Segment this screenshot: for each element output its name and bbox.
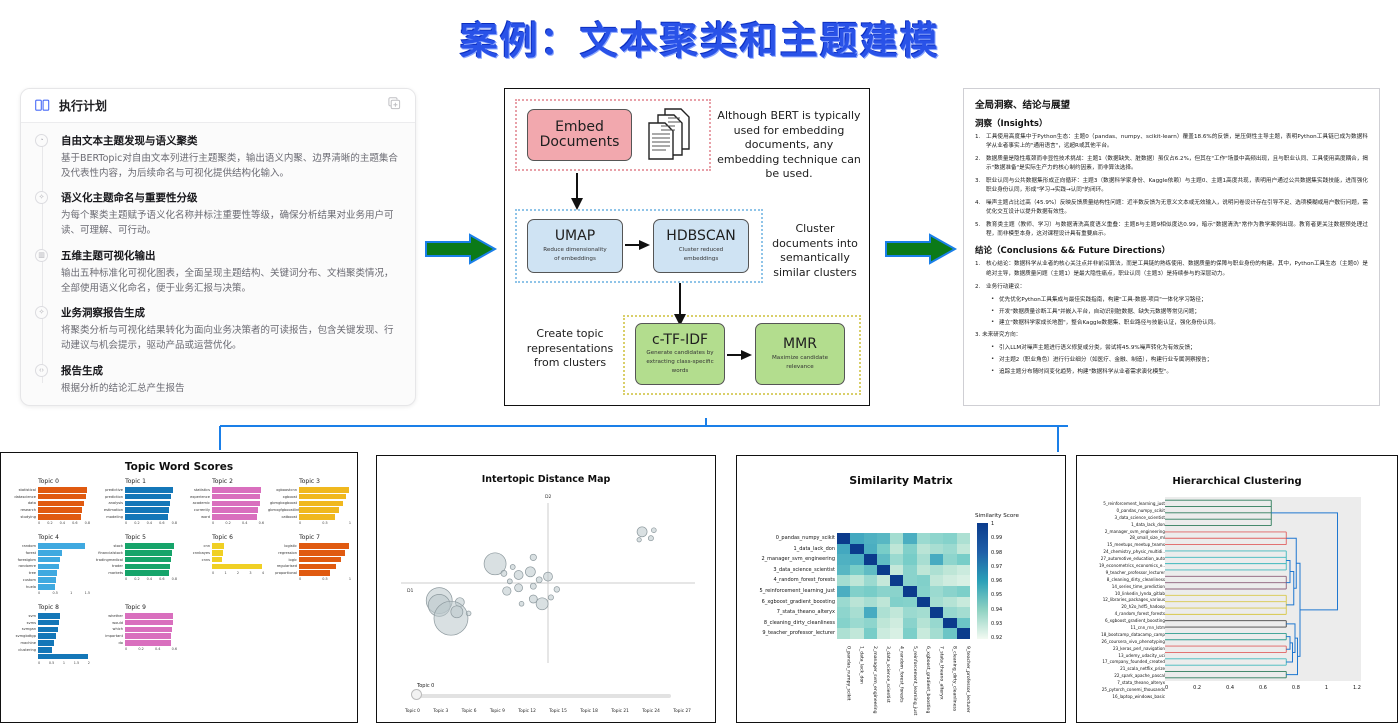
matrix-cell[interactable] [864, 607, 877, 618]
dendrogram-leaf-label: 14_series_time_prediction [1079, 584, 1165, 591]
matrix-cell[interactable] [837, 628, 850, 639]
matrix-cell[interactable] [917, 565, 930, 576]
matrix-cell[interactable] [864, 628, 877, 639]
node-hdbscan[interactable]: HDBSCAN Cluster reduced embeddings [653, 219, 749, 273]
topic-word-row: clustering [7, 647, 90, 653]
matrix-cell[interactable] [877, 618, 890, 629]
conclusion-bullet: 建立"数据科学家成长地图"，整合Kaggle数据集、职业路径与技能认证，强化身份… [991, 319, 1368, 328]
plan-step-title: 报告生成 [61, 363, 401, 378]
topic-slider-track[interactable] [415, 694, 671, 698]
topic-word-row: predictive [94, 487, 177, 493]
topic-bubble[interactable] [525, 567, 535, 577]
slider-tick-label: Topic 27 [673, 709, 691, 714]
bertopic-pipeline-diagram: Embed Documents Although BERT is typical… [504, 88, 870, 406]
matrix-cell[interactable] [850, 607, 863, 618]
topic-bubble[interactable] [637, 538, 641, 542]
insight-text: 数据质量是隐性瓶颈而非显性技术挑战：主题1（数据缺失、脏数据）虽仅占6.2%，但… [986, 156, 1368, 171]
topic-word-bar [125, 570, 169, 576]
similarity-plot-area: 0_pandas_numpy_scikit1_data_lack_don2_ma… [737, 491, 1065, 703]
insight-item: 2. 数据质量是隐性瓶颈而非显性技术挑战：主题1（数据缺失、脏数据）虽仅占6.2… [975, 155, 1368, 173]
topic-word-panel: Topic 9whetherwouldwhichimportantdo00.20… [92, 601, 179, 671]
insight-number: 3. [975, 177, 980, 186]
plan-step-title: 业务洞察报告生成 [61, 305, 401, 320]
colorbar-tick: 0.92 [991, 635, 1002, 641]
matrix-row-label: 3_data_science_scientist [739, 565, 835, 576]
topic-word-row: forestgbm [7, 557, 90, 563]
matrix-cell[interactable] [903, 544, 916, 555]
matrix-cell[interactable] [864, 565, 877, 576]
note-embed-text: Although BERT is typically used for embe… [715, 109, 863, 182]
colorbar-tick: 1 [991, 521, 1002, 527]
dendrogram-leaf-label: 16_laptop_windows_basic [1079, 694, 1165, 701]
matrix-cell[interactable] [903, 607, 916, 618]
topic-word-label: studying [7, 515, 38, 519]
topic-panel-title: Topic 8 [7, 604, 90, 611]
topic-word-label: cnnbayes [181, 551, 212, 555]
matrix-column-labels: 0_pandas_numpy_scikit1_data_lack_don2_ma… [837, 646, 970, 715]
matrix-row-label: 2_manager_svm_engineering [739, 554, 835, 565]
matrix-cell[interactable] [890, 554, 903, 565]
dendrogram-leaf-label: 1_data_lack_don [1079, 522, 1165, 529]
matrix-cell[interactable] [864, 597, 877, 608]
topic-word-panel: Topic 1predictivepredictionanalysisestim… [92, 475, 179, 531]
topic-word-row: statistical [7, 487, 90, 493]
topic-panel-axis: 00.20.40.60.8 [125, 520, 177, 526]
matrix-cell[interactable] [864, 575, 877, 586]
sparkle-icon: ✧ [35, 191, 48, 204]
topic-word-bar [212, 507, 258, 513]
topic-word-bar [38, 640, 54, 646]
topic-panel-title: Topic 0 [7, 478, 90, 485]
matrix-column-label: 9_teacher_professor_lecturer [957, 646, 970, 715]
matrix-column-label: 5_reinforcement_learning_just [903, 646, 916, 715]
topic-bubble[interactable] [519, 601, 524, 606]
topic-word-bar [38, 570, 57, 576]
topic-word-row: cnnbayes [181, 550, 264, 556]
topic-word-row: machine [7, 640, 90, 646]
topic-word-bar [125, 640, 171, 646]
matrix-cell[interactable] [837, 533, 850, 544]
insight-text: 噪声主题占比过高（45.9%）反映反馈质量结构性问题：近半数反馈为无意义文本或无… [986, 200, 1368, 215]
matrix-column-label: 4_random_forest_forests [890, 646, 903, 715]
matrix-cell[interactable] [957, 565, 970, 576]
matrix-cell[interactable] [903, 565, 916, 576]
topic-bubble[interactable] [514, 571, 523, 580]
topic-word-label: logic [268, 558, 299, 562]
connector-bracket [210, 408, 1075, 456]
topic-bubble[interactable] [451, 606, 463, 618]
matrix-cell[interactable] [957, 533, 970, 544]
topic-word-row: stock [94, 543, 177, 549]
matrix-cell[interactable] [917, 607, 930, 618]
matrix-cell[interactable] [943, 628, 956, 639]
node-embed-line2: Documents [540, 135, 620, 150]
topic-word-label: forest [7, 551, 38, 555]
chart-title: Topic Word Scores [1, 461, 357, 473]
colorbar-tick: 0.94 [991, 607, 1002, 613]
matrix-cell[interactable] [850, 597, 863, 608]
future-bullet: 引入LLM对噪声主题进行语义修复或分类，尝试将45.9%噪声转化为有效反馈； [991, 344, 1368, 353]
topic-bubble[interactable] [544, 572, 553, 581]
matrix-cell[interactable] [890, 565, 903, 576]
matrix-cell[interactable] [903, 597, 916, 608]
plan-step[interactable]: ▥ 五维主题可视化输出 输出五种标准化可视化图表，全面呈现主题结构、关键词分布、… [35, 248, 401, 296]
topic-word-bar [38, 654, 88, 660]
matrix-cell[interactable] [943, 607, 956, 618]
topic-word-bar [38, 613, 60, 619]
node-ctfidf-sub3: words [672, 368, 689, 375]
matrix-cell[interactable] [890, 544, 903, 555]
matrix-cell[interactable] [957, 554, 970, 565]
matrix-cell[interactable] [943, 586, 956, 597]
topic-word-label: trader [94, 564, 125, 568]
topic-panel-axis: 00.20.40.60.8 [125, 576, 177, 582]
matrix-cell[interactable] [877, 575, 890, 586]
matrix-cell[interactable] [837, 586, 850, 597]
matrix-cell[interactable] [837, 607, 850, 618]
topic-word-label: important [94, 634, 125, 638]
topic-bubble[interactable] [530, 583, 536, 589]
matrix-cell[interactable] [890, 618, 903, 629]
matrix-cell[interactable] [930, 607, 943, 618]
conclusion-text: 业务行动建议： [986, 284, 1025, 290]
matrix-row-label: 5_reinforcement_learning_just [739, 586, 835, 597]
dendrogram-leaf-label: 13_udemy_udacity_uci [1079, 653, 1165, 660]
matrix-cell[interactable] [877, 607, 890, 618]
topic-word-bar [38, 501, 84, 507]
matrix-cell[interactable] [957, 618, 970, 629]
topic-word-row: modeling [94, 514, 177, 520]
matrix-cell[interactable] [943, 554, 956, 565]
dendrogram-leaf-label: 28_small_size_ml [1079, 535, 1165, 542]
topic-bubble[interactable] [651, 528, 656, 533]
matrix-cell[interactable] [837, 618, 850, 629]
matrix-cell[interactable] [930, 618, 943, 629]
matrix-cell[interactable] [903, 628, 916, 639]
matrix-cell[interactable] [930, 565, 943, 576]
matrix-cell[interactable] [930, 586, 943, 597]
dendrogram-leaf-label: 23_keras_perl_navigation [1079, 646, 1165, 653]
matrix-cell[interactable] [930, 628, 943, 639]
matrix-cell[interactable] [850, 586, 863, 597]
note-cluster-text: Cluster documents into semantically simi… [767, 222, 863, 280]
matrix-column-label: 2_manager_svm_engineering [864, 646, 877, 715]
dendrogram-tick: 1.2 [1353, 685, 1361, 691]
matrix-cell[interactable] [837, 597, 850, 608]
matrix-cell[interactable] [850, 618, 863, 629]
matrix-cell[interactable] [917, 533, 930, 544]
topic-bubble[interactable] [510, 565, 515, 570]
matrix-cell[interactable] [957, 607, 970, 618]
arrow-umap-to-hdbscan [625, 237, 651, 253]
topic-word-bar [125, 633, 171, 639]
topic-word-row: trader [94, 564, 177, 570]
dendrogram-leaf-label: 9_teacher_professor_lecturer [1079, 570, 1165, 577]
matrix-cell[interactable] [957, 628, 970, 639]
plan-step[interactable]: ‹› 报告生成 根据分析的结论汇总产生报告 [35, 363, 401, 397]
topic-word-label: whether [94, 614, 125, 618]
node-ctfidf-sub2: extracting class-specific [646, 359, 713, 366]
matrix-cell[interactable] [850, 533, 863, 544]
dendrogram-leaf-label: 8_cleaning_dirty_cleanliness [1079, 577, 1165, 584]
topic-word-label: markets [94, 571, 125, 575]
topic-word-row: experience [181, 494, 264, 500]
matrix-row-label: 9_teacher_professor_lecturer [739, 628, 835, 639]
topic-bubble[interactable] [648, 536, 653, 541]
plan-card-header: 执行计划 [21, 89, 415, 123]
dendrogram-leaf-label: 25_pytorch_conemi_thousands [1079, 687, 1165, 694]
topic-word-label: randomre [7, 564, 38, 568]
matrix-cell[interactable] [864, 586, 877, 597]
matrix-cell[interactable] [850, 554, 863, 565]
matrix-cell[interactable] [917, 597, 930, 608]
dendrogram-leaf-label: 22_spark_apache_pascal [1079, 673, 1165, 680]
topic-bubble[interactable] [434, 601, 468, 635]
node-embed-line1: Embed [555, 120, 604, 135]
matrix-cell[interactable] [943, 565, 956, 576]
matrix-cell[interactable] [917, 554, 930, 565]
matrix-cell[interactable] [837, 544, 850, 555]
plan-step[interactable]: ✧ 语义化主题命名与重要性分级 为每个聚类主题赋予语义化名称并标注重要性等级，确… [35, 190, 401, 238]
documents-icon [643, 107, 701, 168]
topic-word-label: statistical [7, 488, 38, 492]
matrix-row-label: 0_pandas_numpy_scikit [739, 533, 835, 544]
matrix-cell[interactable] [930, 554, 943, 565]
topic-panel-axis: 00.511.52 [38, 659, 90, 665]
dendrogram-leaf-labels: 5_reinforcement_learning_just0_pandas_nu… [1079, 501, 1165, 701]
matrix-cell[interactable] [957, 597, 970, 608]
chart-hierarchical-clustering: Hierarchical Clustering 5_reinforcement_… [1076, 455, 1398, 723]
topic-word-label: logistic [268, 544, 299, 548]
topic-panel-title: Topic 4 [7, 534, 90, 541]
topic-word-label: prediction [94, 495, 125, 499]
matrix-cell[interactable] [943, 618, 956, 629]
topic-word-bar [125, 620, 173, 626]
dendrogram-tick: 0 [1165, 685, 1168, 691]
chart-title: Similarity Matrix [737, 474, 1065, 487]
topic-bubble[interactable] [503, 587, 511, 595]
topic-bubble[interactable] [507, 579, 512, 584]
dendrogram-leaf-label: 10_linkedin_lynda_gitlab [1079, 591, 1165, 598]
copy-icon[interactable] [388, 97, 401, 115]
topic-bubble[interactable] [466, 611, 471, 616]
matrix-cell[interactable] [943, 597, 956, 608]
matrix-cell[interactable] [930, 533, 943, 544]
topic-word-row: analysis [94, 501, 177, 507]
dendrogram-leaf-label: 27_automotive_education_auto [1079, 556, 1165, 563]
book-icon [35, 99, 50, 112]
matrix-cell[interactable] [903, 618, 916, 629]
topic-word-row: svm [7, 613, 90, 619]
topic-word-row: catboost [268, 514, 351, 520]
topic-word-bar [125, 627, 172, 633]
dendrogram-leaf-label: 5_reinforcement_learning_just [1079, 501, 1165, 508]
matrix-cell[interactable] [877, 597, 890, 608]
slider-tick-label: Topic 6 [462, 709, 477, 714]
matrix-cell[interactable] [917, 586, 930, 597]
matrix-cell[interactable] [890, 586, 903, 597]
topic-word-row [7, 654, 90, 660]
topic-word-row: do [94, 640, 177, 646]
node-umap[interactable]: UMAP Reduce dimensionality of embeddings [527, 219, 623, 273]
chart-title: Intertopic Distance Map [377, 474, 715, 485]
topic-panel-axis: 00.20.40.6 [125, 646, 177, 652]
colorbar-tick: 0.97 [991, 564, 1002, 570]
topic-word-bar [299, 487, 349, 493]
matrix-cell[interactable] [903, 586, 916, 597]
topic-word-bar [38, 564, 59, 570]
matrix-row-label: 8_cleaning_dirty_cleanliness [739, 618, 835, 629]
matrix-cell[interactable] [877, 628, 890, 639]
topic-bubble[interactable] [637, 527, 647, 537]
matrix-cell[interactable] [930, 597, 943, 608]
matrix-cell[interactable] [957, 575, 970, 586]
topic-word-row: word [181, 514, 264, 520]
node-ctfidf-title: c-TF-IDF [652, 333, 708, 348]
slider-tick-label: Topic 18 [580, 709, 598, 714]
matrix-cell[interactable] [943, 533, 956, 544]
node-ctfidf-sub1: Generate candidates by [646, 350, 713, 357]
topic-bubble[interactable] [536, 598, 548, 610]
topic-word-bar [38, 647, 52, 653]
matrix-cell[interactable] [917, 544, 930, 555]
node-hdbscan-sub2: embeddings [684, 256, 719, 263]
matrix-cell[interactable] [877, 586, 890, 597]
matrix-cell[interactable] [850, 628, 863, 639]
topic-word-row: svms [7, 620, 90, 626]
matrix-cell[interactable] [903, 554, 916, 565]
node-embed-documents[interactable]: Embed Documents [527, 109, 632, 161]
matrix-cell[interactable] [890, 597, 903, 608]
topic-word-panel: Topic 0statisticaldatasciencedataresearc… [5, 475, 92, 531]
topic-word-bar [212, 494, 260, 500]
colorbar-tick: 0.96 [991, 578, 1002, 584]
topic-panel-axis: 00.20.40.6 [212, 520, 264, 526]
matrix-cell[interactable] [850, 565, 863, 576]
matrix-cell[interactable] [917, 628, 930, 639]
topic-panel-title: Topic 2 [181, 478, 264, 485]
topic-panel-axis: 00.20.40.60.8 [38, 520, 90, 526]
matrix-cell[interactable] [864, 544, 877, 555]
topic-word-bar [38, 507, 82, 513]
topic-word-bar [212, 514, 257, 520]
topic-word-bar [38, 514, 81, 520]
matrix-cell[interactable] [877, 544, 890, 555]
topic-word-panel: Topic 8svmsvmssvmgansvmgbdtgpmachineclus… [5, 601, 92, 671]
matrix-cell[interactable] [917, 575, 930, 586]
matrix-column-label: 3_data_science_scientist [877, 646, 890, 715]
matrix-cell[interactable] [890, 575, 903, 586]
flow-arrow-pipeline-to-insights [884, 232, 958, 266]
node-mmr[interactable]: MMR Maximize candidate relevance [755, 323, 845, 385]
colorbar-tick: 0.99 [991, 535, 1002, 541]
topic-word-bar [299, 514, 335, 520]
matrix-cell[interactable] [903, 533, 916, 544]
topic-word-bar [125, 550, 172, 556]
insights-heading: 全局洞察、结论与展望 [975, 97, 1368, 111]
topic-word-label: xgboost [268, 495, 299, 499]
topic-slider-knob[interactable] [411, 689, 422, 700]
dendrogram-leaf-label: 12_libraries_packages_various [1079, 597, 1165, 604]
plan-step[interactable]: ✧ 业务洞察报告生成 将聚类分析与可视化结果转化为面向业务决策者的可读报告，包含… [35, 305, 401, 353]
matrix-cell[interactable] [890, 533, 903, 544]
conclusion-item: 2. 业务行动建议： [975, 283, 1368, 292]
sparkle-icon: ✧ [35, 306, 48, 319]
topic-bubble[interactable] [530, 554, 536, 560]
matrix-cell[interactable] [837, 565, 850, 576]
topic-word-bar [212, 557, 222, 563]
dendrogram-tick: 0.2 [1193, 685, 1201, 691]
topic-bubble[interactable] [548, 595, 553, 600]
matrix-cell[interactable] [850, 544, 863, 555]
matrix-cell[interactable] [957, 544, 970, 555]
matrix-column-label: 0_pandas_numpy_scikit [837, 646, 850, 715]
topic-word-row: important [94, 633, 177, 639]
node-ctfidf[interactable]: c-TF-IDF Generate candidates by extracti… [635, 323, 725, 385]
code-icon: ‹› [35, 364, 48, 377]
matrix-cell[interactable] [864, 533, 877, 544]
topic-word-bar [212, 487, 261, 493]
plan-step[interactable]: ◔ 自由文本主题发现与语义聚类 基于BERTopic对自由文本列进行主题聚类，输… [35, 133, 401, 181]
matrix-cell[interactable] [890, 607, 903, 618]
execution-plan-card: 执行计划 ◔ 自由文本主题发现与语义聚类 基于BERTopic对自由文本列进行主… [20, 88, 416, 406]
topic-word-bar [299, 557, 341, 563]
topic-word-label: modeling [94, 515, 125, 519]
matrix-cell[interactable] [930, 575, 943, 586]
topic-word-bar [125, 494, 171, 500]
matrix-cell[interactable] [877, 565, 890, 576]
matrix-cell[interactable] [957, 586, 970, 597]
matrix-cell[interactable] [837, 575, 850, 586]
topic-word-bar [38, 577, 56, 583]
chart-intertopic-distance-map: Intertopic Distance Map D2 D1 Topic 0 To… [376, 455, 716, 723]
topic-bubble[interactable] [536, 577, 542, 583]
matrix-cell[interactable] [917, 618, 930, 629]
topic-word-bar [38, 494, 86, 500]
future-bullet: 对主题2（职业角色）进行行业细分（如医疗、金融、制造），构建行业专属洞察报告； [991, 356, 1368, 365]
topic-word-label: analysis [94, 501, 125, 505]
matrix-cell[interactable] [890, 628, 903, 639]
topic-bubble[interactable] [501, 570, 507, 576]
matrix-column-label: 1_data_lack_don [850, 646, 863, 715]
matrix-cell[interactable] [943, 544, 956, 555]
plan-step-desc: 将聚类分析与可视化结果转化为面向业务决策者的可读报告，包含关键发现、行动建议与机… [61, 324, 401, 353]
conclusion-bullet: 优先优化Python工具集成与最佳实践指南，构建"工具-数据-项目"一体化学习路… [991, 296, 1368, 305]
matrix-cell[interactable] [877, 533, 890, 544]
topic-word-row: xgboost [268, 494, 351, 500]
matrix-cell[interactable] [903, 575, 916, 586]
matrix-cell[interactable] [943, 575, 956, 586]
topic-bubble[interactable] [554, 587, 560, 593]
matrix-cell[interactable] [864, 554, 877, 565]
topic-word-label: regularised [268, 564, 299, 568]
matrix-cell[interactable] [864, 618, 877, 629]
matrix-cell[interactable] [930, 544, 943, 555]
dendrogram-leaf-label: 0_pandas_numpy_scikit [1079, 508, 1165, 515]
topic-bubble[interactable] [515, 584, 523, 592]
dendrogram-tick: 0.6 [1259, 685, 1267, 691]
matrix-cell[interactable] [877, 554, 890, 565]
topic-word-bar [212, 550, 223, 556]
slider-tick-label: Topic 15 [549, 709, 567, 714]
dendrogram-leaf-label: 6_xgboost_gradient_boosting [1079, 618, 1165, 625]
matrix-cell[interactable] [850, 575, 863, 586]
matrix-row-label: 4_random_forest_forests [739, 575, 835, 586]
slider-tick-labels: Topic 0Topic 3Topic 6Topic 9Topic 12Topi… [405, 709, 691, 714]
insight-item: 4. 噪声主题占比过高（45.9%）反映反馈质量结构性问题：近半数反馈为无意义文… [975, 199, 1368, 217]
topic-word-bar [299, 543, 349, 549]
matrix-cell[interactable] [837, 554, 850, 565]
